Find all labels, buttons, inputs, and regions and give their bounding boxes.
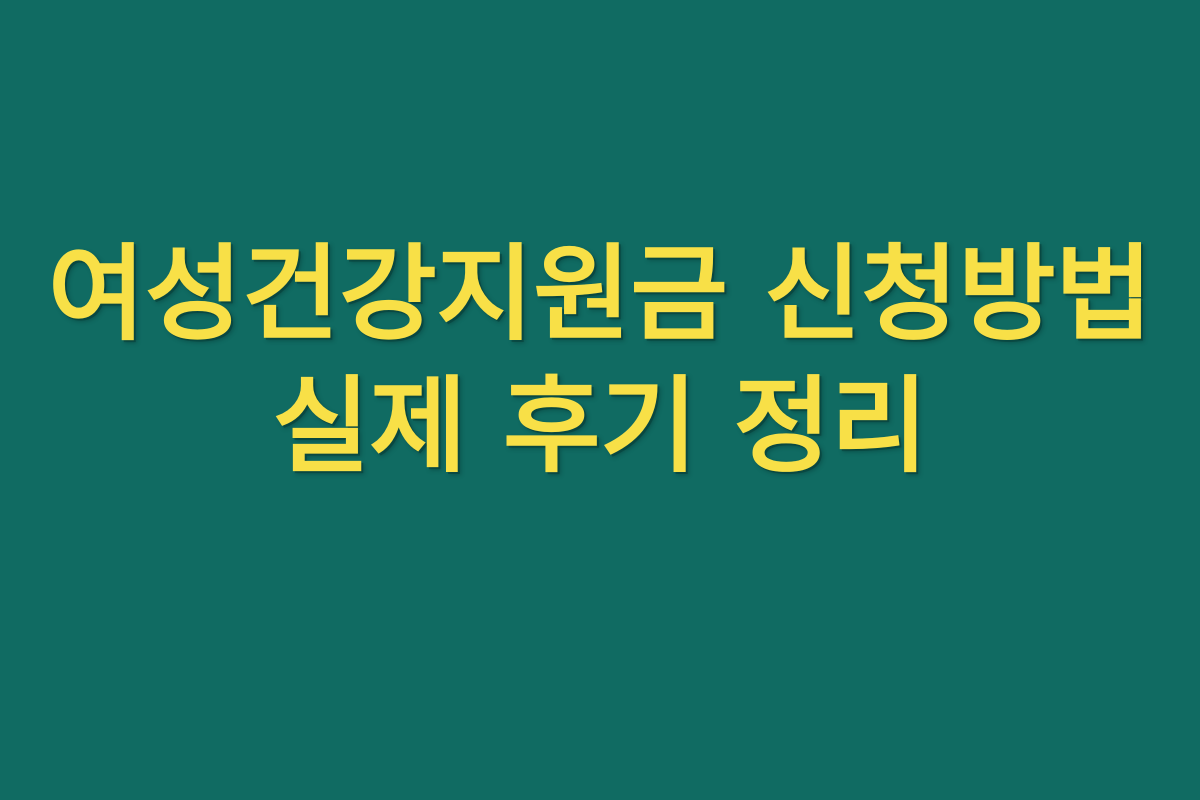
title-line-2: 실제 후기 정리 <box>0 367 1200 485</box>
title-line-1: 여성건강지원금 신청방법 <box>0 235 1200 353</box>
thumbnail-canvas: 여성건강지원금 신청방법 실제 후기 정리 <box>0 0 1200 800</box>
title-block: 여성건강지원금 신청방법 실제 후기 정리 <box>0 235 1200 485</box>
